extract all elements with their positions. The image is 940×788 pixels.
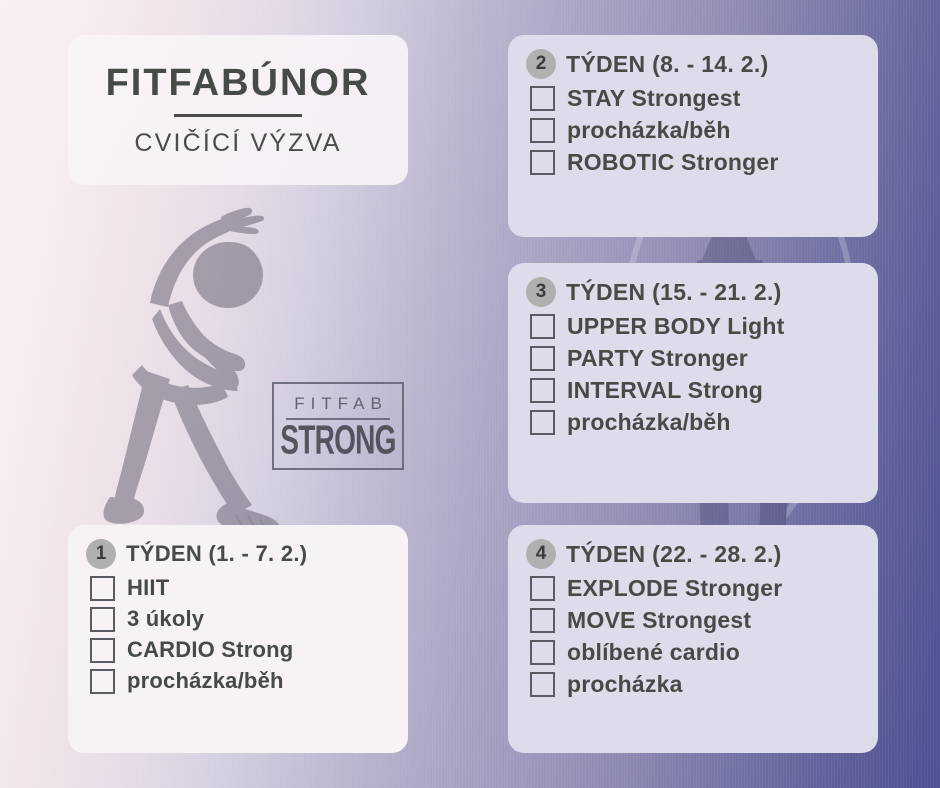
task-row[interactable]: oblíbené cardio [526, 639, 860, 666]
task-row[interactable]: PARTY Stronger [526, 345, 860, 372]
task-row[interactable]: INTERVAL Strong [526, 377, 860, 404]
checkbox-icon[interactable] [530, 86, 555, 111]
checkbox-icon[interactable] [90, 576, 115, 601]
checkbox-icon[interactable] [530, 150, 555, 175]
title-card: FITFABÚNOR CVIČÍCÍ VÝZVA [68, 35, 408, 185]
task-row[interactable]: 3 úkoly [86, 606, 390, 632]
checkbox-icon[interactable] [90, 638, 115, 663]
task-row[interactable]: HIIT [86, 575, 390, 601]
task-label: HIIT [127, 575, 169, 601]
checkbox-icon[interactable] [530, 346, 555, 371]
week-1-title: TÝDEN (1. - 7. 2.) [126, 541, 307, 567]
task-label: procházka/běh [127, 668, 284, 694]
page-title: FITFABÚNOR [106, 64, 371, 102]
task-label: STAY Strongest [567, 85, 741, 112]
task-label: procházka [567, 671, 683, 698]
checkbox-icon[interactable] [90, 669, 115, 694]
poster-canvas: FITFABÚNOR CVIČÍCÍ VÝZVA FITFAB STRONG 1… [0, 0, 940, 788]
logo-bottom-text: STRONG [280, 419, 395, 459]
task-row[interactable]: STAY Strongest [526, 85, 860, 112]
week-4-number-badge: 4 [526, 539, 556, 569]
task-row[interactable]: CARDIO Strong [86, 637, 390, 663]
checkbox-icon[interactable] [530, 378, 555, 403]
week-card-4: 4 TÝDEN (22. - 28. 2.) EXPLODE Stronger … [508, 525, 878, 753]
task-label: ROBOTIC Stronger [567, 149, 778, 176]
task-row[interactable]: procházka/běh [526, 409, 860, 436]
week-4-title: TÝDEN (22. - 28. 2.) [566, 541, 782, 568]
checkbox-icon[interactable] [530, 314, 555, 339]
week-1-number-badge: 1 [86, 539, 116, 569]
week-3-header: 3 TÝDEN (15. - 21. 2.) [526, 277, 860, 307]
checkbox-icon[interactable] [530, 118, 555, 143]
fitfab-strong-logo: FITFAB STRONG [272, 382, 404, 470]
task-row[interactable]: ROBOTIC Stronger [526, 149, 860, 176]
task-label: EXPLODE Stronger [567, 575, 782, 602]
task-label: UPPER BODY Light [567, 313, 784, 340]
checkbox-icon[interactable] [530, 672, 555, 697]
week-2-header: 2 TÝDEN (8. - 14. 2.) [526, 49, 860, 79]
task-label: INTERVAL Strong [567, 377, 763, 404]
checkbox-icon[interactable] [530, 640, 555, 665]
checkbox-icon[interactable] [530, 608, 555, 633]
week-card-3: 3 TÝDEN (15. - 21. 2.) UPPER BODY Light … [508, 263, 878, 503]
checkbox-icon[interactable] [530, 576, 555, 601]
task-label: CARDIO Strong [127, 637, 293, 663]
week-2-number-badge: 2 [526, 49, 556, 79]
task-row[interactable]: UPPER BODY Light [526, 313, 860, 340]
week-3-title: TÝDEN (15. - 21. 2.) [566, 279, 782, 306]
page-subtitle: CVIČÍCÍ VÝZVA [134, 131, 341, 156]
week-4-header: 4 TÝDEN (22. - 28. 2.) [526, 539, 860, 569]
week-card-2: 2 TÝDEN (8. - 14. 2.) STAY Strongest pro… [508, 35, 878, 237]
week-card-1: 1 TÝDEN (1. - 7. 2.) HIIT 3 úkoly CARDIO… [68, 525, 408, 753]
task-label: oblíbené cardio [567, 639, 740, 666]
task-row[interactable]: procházka/běh [526, 117, 860, 144]
task-row[interactable]: procházka [526, 671, 860, 698]
task-row[interactable]: procházka/běh [86, 668, 390, 694]
stretching-woman-silhouette [88, 185, 348, 545]
task-row[interactable]: EXPLODE Stronger [526, 575, 860, 602]
task-row[interactable]: MOVE Strongest [526, 607, 860, 634]
task-label: PARTY Stronger [567, 345, 748, 372]
task-label: procházka/běh [567, 117, 731, 144]
checkbox-icon[interactable] [530, 410, 555, 435]
week-3-number-badge: 3 [526, 277, 556, 307]
checkbox-icon[interactable] [90, 607, 115, 632]
logo-top-text: FITFAB [288, 395, 388, 412]
task-label: MOVE Strongest [567, 607, 751, 634]
week-1-header: 1 TÝDEN (1. - 7. 2.) [86, 539, 390, 569]
task-label: procházka/běh [567, 409, 731, 436]
title-divider [174, 114, 302, 117]
week-2-title: TÝDEN (8. - 14. 2.) [566, 51, 769, 78]
task-label: 3 úkoly [127, 606, 204, 632]
